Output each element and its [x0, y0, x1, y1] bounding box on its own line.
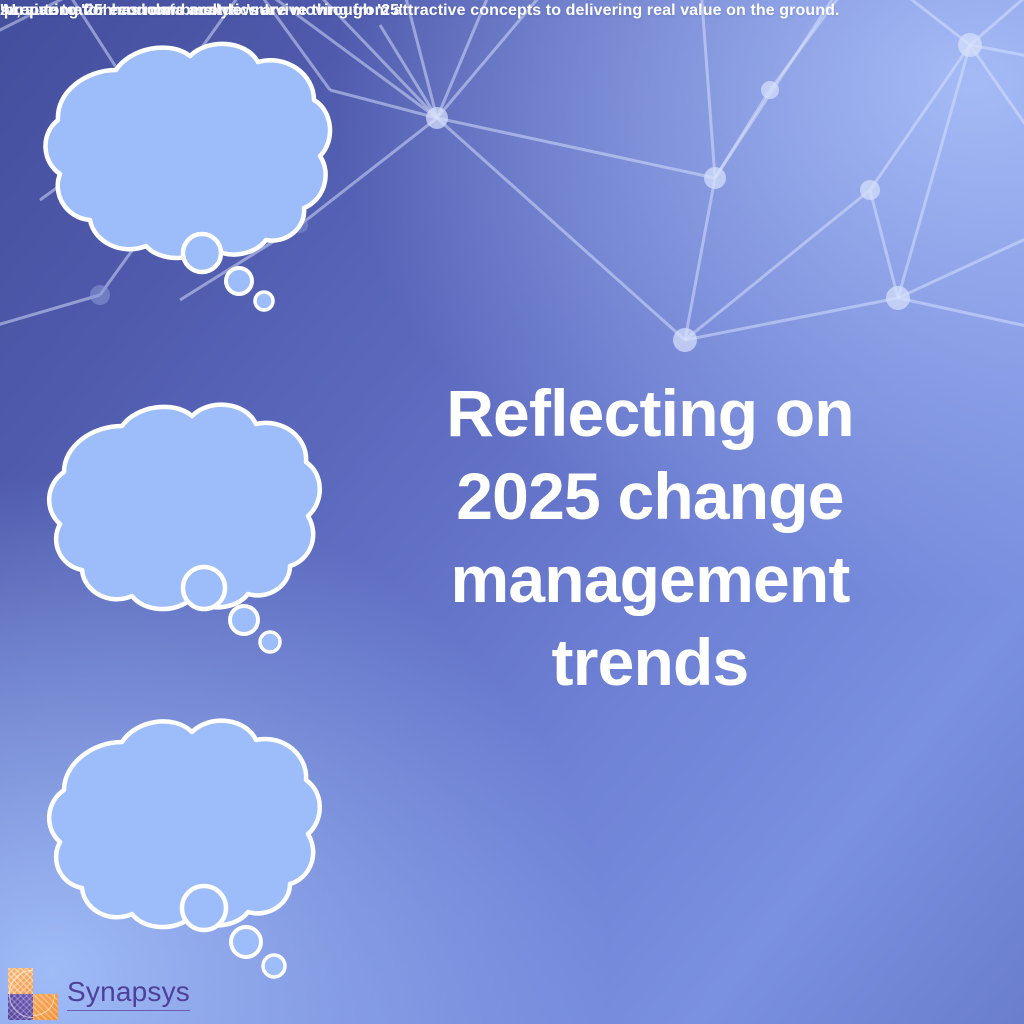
- logo-wordmark: Synapsys: [67, 977, 190, 1006]
- thought-bubble-trail: [170, 558, 300, 668]
- thought-bubble-survive-25-text: survive to '25' has now become 'survive …: [0, 0, 408, 21]
- thought-bubble-economic-meltdown-text: 'preparing for economic meltdown': [0, 0, 269, 21]
- logo-quadrant-bottom-right: [33, 994, 58, 1020]
- thought-bubble-trail: [168, 225, 298, 325]
- brand-logo[interactable]: Synapsys: [8, 968, 190, 1020]
- poster-canvas: AI, automation and data analytics are mo…: [0, 0, 1024, 1024]
- thought-bubble-survive-25: [30, 398, 330, 648]
- page-title: Reflecting on 2025 change management tre…: [400, 372, 900, 705]
- thought-bubble-ai-automation: [18, 40, 338, 320]
- logo-underline-divider: [67, 1010, 190, 1011]
- thought-bubble-economic-meltdown: [28, 712, 328, 972]
- logo-quadrant-top-right: [33, 968, 58, 994]
- logo-text-wrap: Synapsys: [67, 977, 190, 1010]
- logo-quadrant-bottom-left: [8, 994, 33, 1020]
- thought-bubble-ai-automation-text: AI, automation and data analytics are mo…: [0, 0, 840, 21]
- logo-quadrant-top-left: [8, 968, 33, 994]
- synapsys-mark-icon: [8, 968, 58, 1020]
